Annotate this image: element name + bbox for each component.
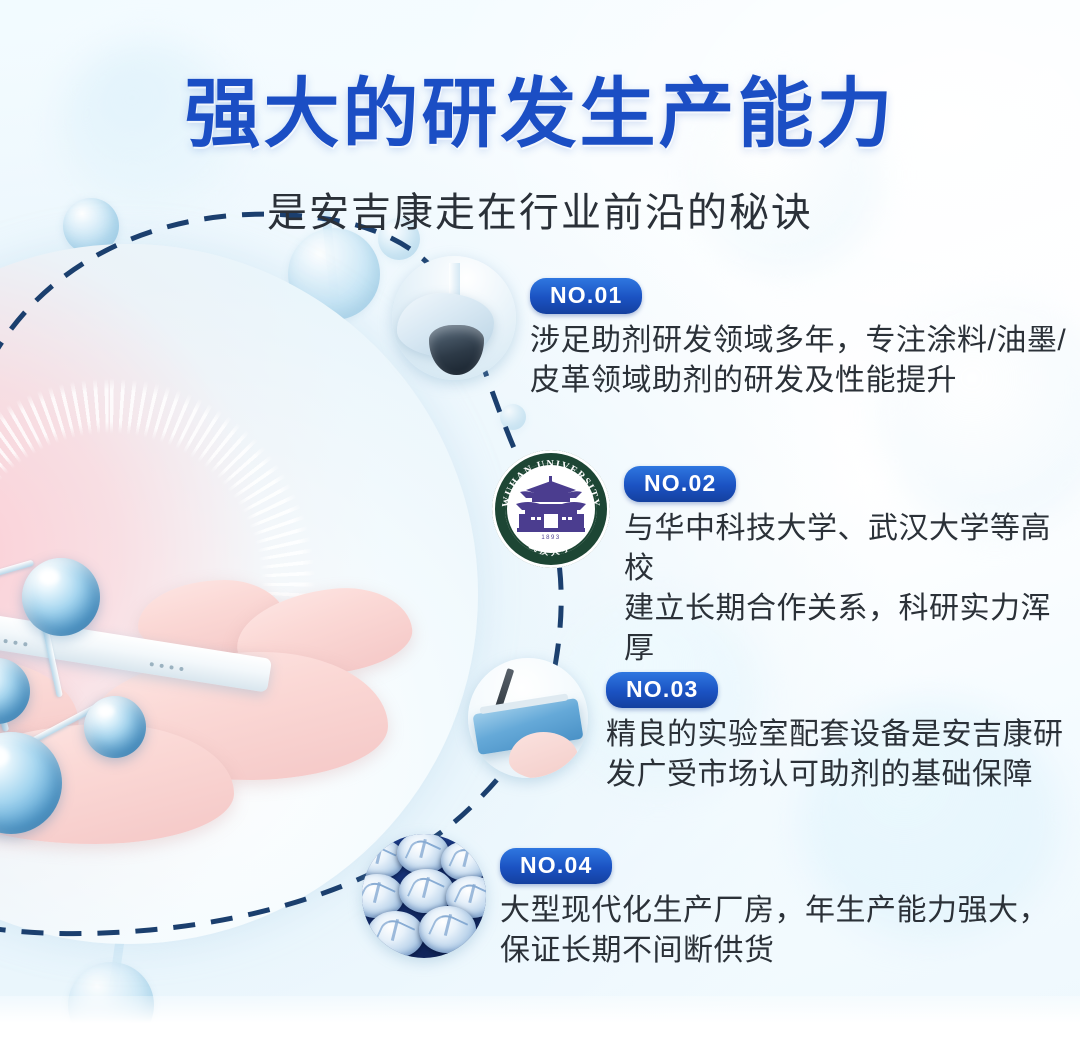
feature-badge-1: NO.01 xyxy=(530,278,642,314)
feature-desc-2: 与华中科技大学、武汉大学等高校 建立长期合作关系，科研实力浑厚 xyxy=(624,509,1080,669)
feature-badge-3: NO.03 xyxy=(606,672,718,708)
feature-text-2: NO.02 与华中科技大学、武汉大学等高校 建立长期合作关系，科研实力浑厚 xyxy=(624,466,1080,669)
feature-desc-3: 精良的实验室配套设备是安吉康研 发广受市场认可助剂的基础保障 xyxy=(606,715,1064,795)
feature-text-1: NO.01 涉足助剂研发领域多年，专注涂料/油墨/ 皮革领域助剂的研发及性能提升 xyxy=(530,278,1066,401)
feature-item-1: NO.01 涉足助剂研发领域多年，专注涂料/油墨/ 皮革领域助剂的研发及性能提升 xyxy=(392,256,1066,401)
feature-item-2: WUHAN UNIVERSITY 武汉大学 xyxy=(492,450,1080,669)
feature-desc-4: 大型现代化生产厂房，年生产能力强大， 保证长期不间断供货 xyxy=(500,891,1049,971)
molecule-cluster xyxy=(0,540,192,840)
feature-badge-4: NO.04 xyxy=(500,848,612,884)
emblem-arc-text: WUHAN UNIVERSITY 武汉大学 xyxy=(492,450,610,568)
promo-poster: 强大的研发生产能力 是安吉康走在行业前沿的秘诀 NO.01 涉足助剂研发领域多年… xyxy=(0,0,1080,1056)
emblem-bottom-label: 武汉大学 xyxy=(528,539,575,557)
wuhan-university-emblem: WUHAN UNIVERSITY 武汉大学 xyxy=(492,450,610,568)
molecule-sphere xyxy=(500,404,526,430)
hand-clipboard-photo xyxy=(468,658,588,778)
svg-text:武汉大学: 武汉大学 xyxy=(528,539,575,557)
feature-desc-1: 涉足助剂研发领域多年，专注涂料/油墨/ 皮革领域助剂的研发及性能提升 xyxy=(530,321,1066,401)
feature-text-3: NO.03 精良的实验室配套设备是安吉康研 发广受市场认可助剂的基础保障 xyxy=(606,672,1064,795)
bottom-white-strip xyxy=(0,996,1080,1056)
heading-block: 强大的研发生产能力 是安吉康走在行业前沿的秘诀 xyxy=(0,52,1080,238)
gloved-hand-flask-photo xyxy=(392,256,516,380)
feature-item-4: NO.04 大型现代化生产厂房，年生产能力强大， 保证长期不间断供货 xyxy=(362,834,1049,971)
feature-item-3: NO.03 精良的实验室配套设备是安吉康研 发广受市场认可助剂的基础保障 xyxy=(468,658,1064,795)
feature-text-4: NO.04 大型现代化生产厂房，年生产能力强大， 保证长期不间断供货 xyxy=(500,848,1049,971)
page-title: 强大的研发生产能力 xyxy=(0,52,1080,162)
feature-badge-2: NO.02 xyxy=(624,466,736,502)
emblem-year-label: 1893 xyxy=(541,535,560,541)
page-subtitle: 是安吉康走在行业前沿的秘诀 xyxy=(0,180,1080,238)
blue-chemical-drums-photo xyxy=(362,834,486,958)
